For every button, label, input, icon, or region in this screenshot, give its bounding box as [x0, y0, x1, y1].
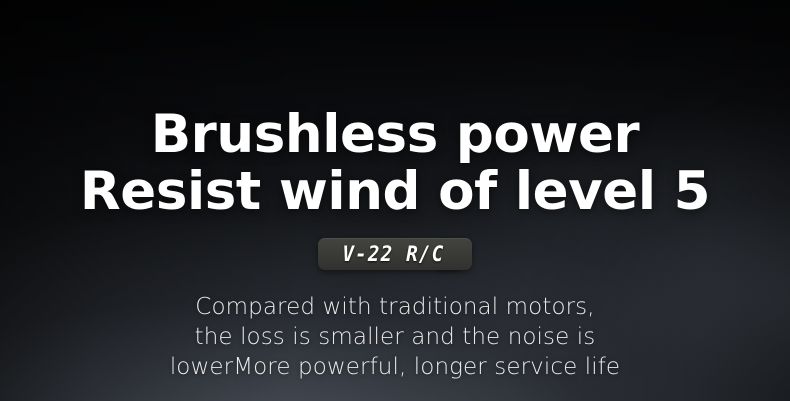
- model-badge: V-22 R/C: [318, 238, 473, 270]
- subtitle-line-3: lowerMore powerful, longer service life: [170, 352, 620, 382]
- badge-plate: V-22 R/C: [318, 238, 473, 270]
- product-hero-banner: Brushless power Resist wind of level 5 V…: [0, 0, 790, 401]
- subtitle: Compared with traditional motors, the lo…: [170, 270, 620, 382]
- banner-content: Brushless power Resist wind of level 5 V…: [0, 0, 790, 401]
- headline: Brushless power Resist wind of level 5: [80, 0, 710, 220]
- headline-line-1: Brushless power: [80, 106, 710, 163]
- headline-line-2: Resist wind of level 5: [80, 163, 710, 220]
- subtitle-line-1: Compared with traditional motors,: [170, 292, 620, 322]
- subtitle-line-2: the loss is smaller and the noise is: [170, 322, 620, 352]
- badge-label: V-22 R/C: [342, 242, 444, 266]
